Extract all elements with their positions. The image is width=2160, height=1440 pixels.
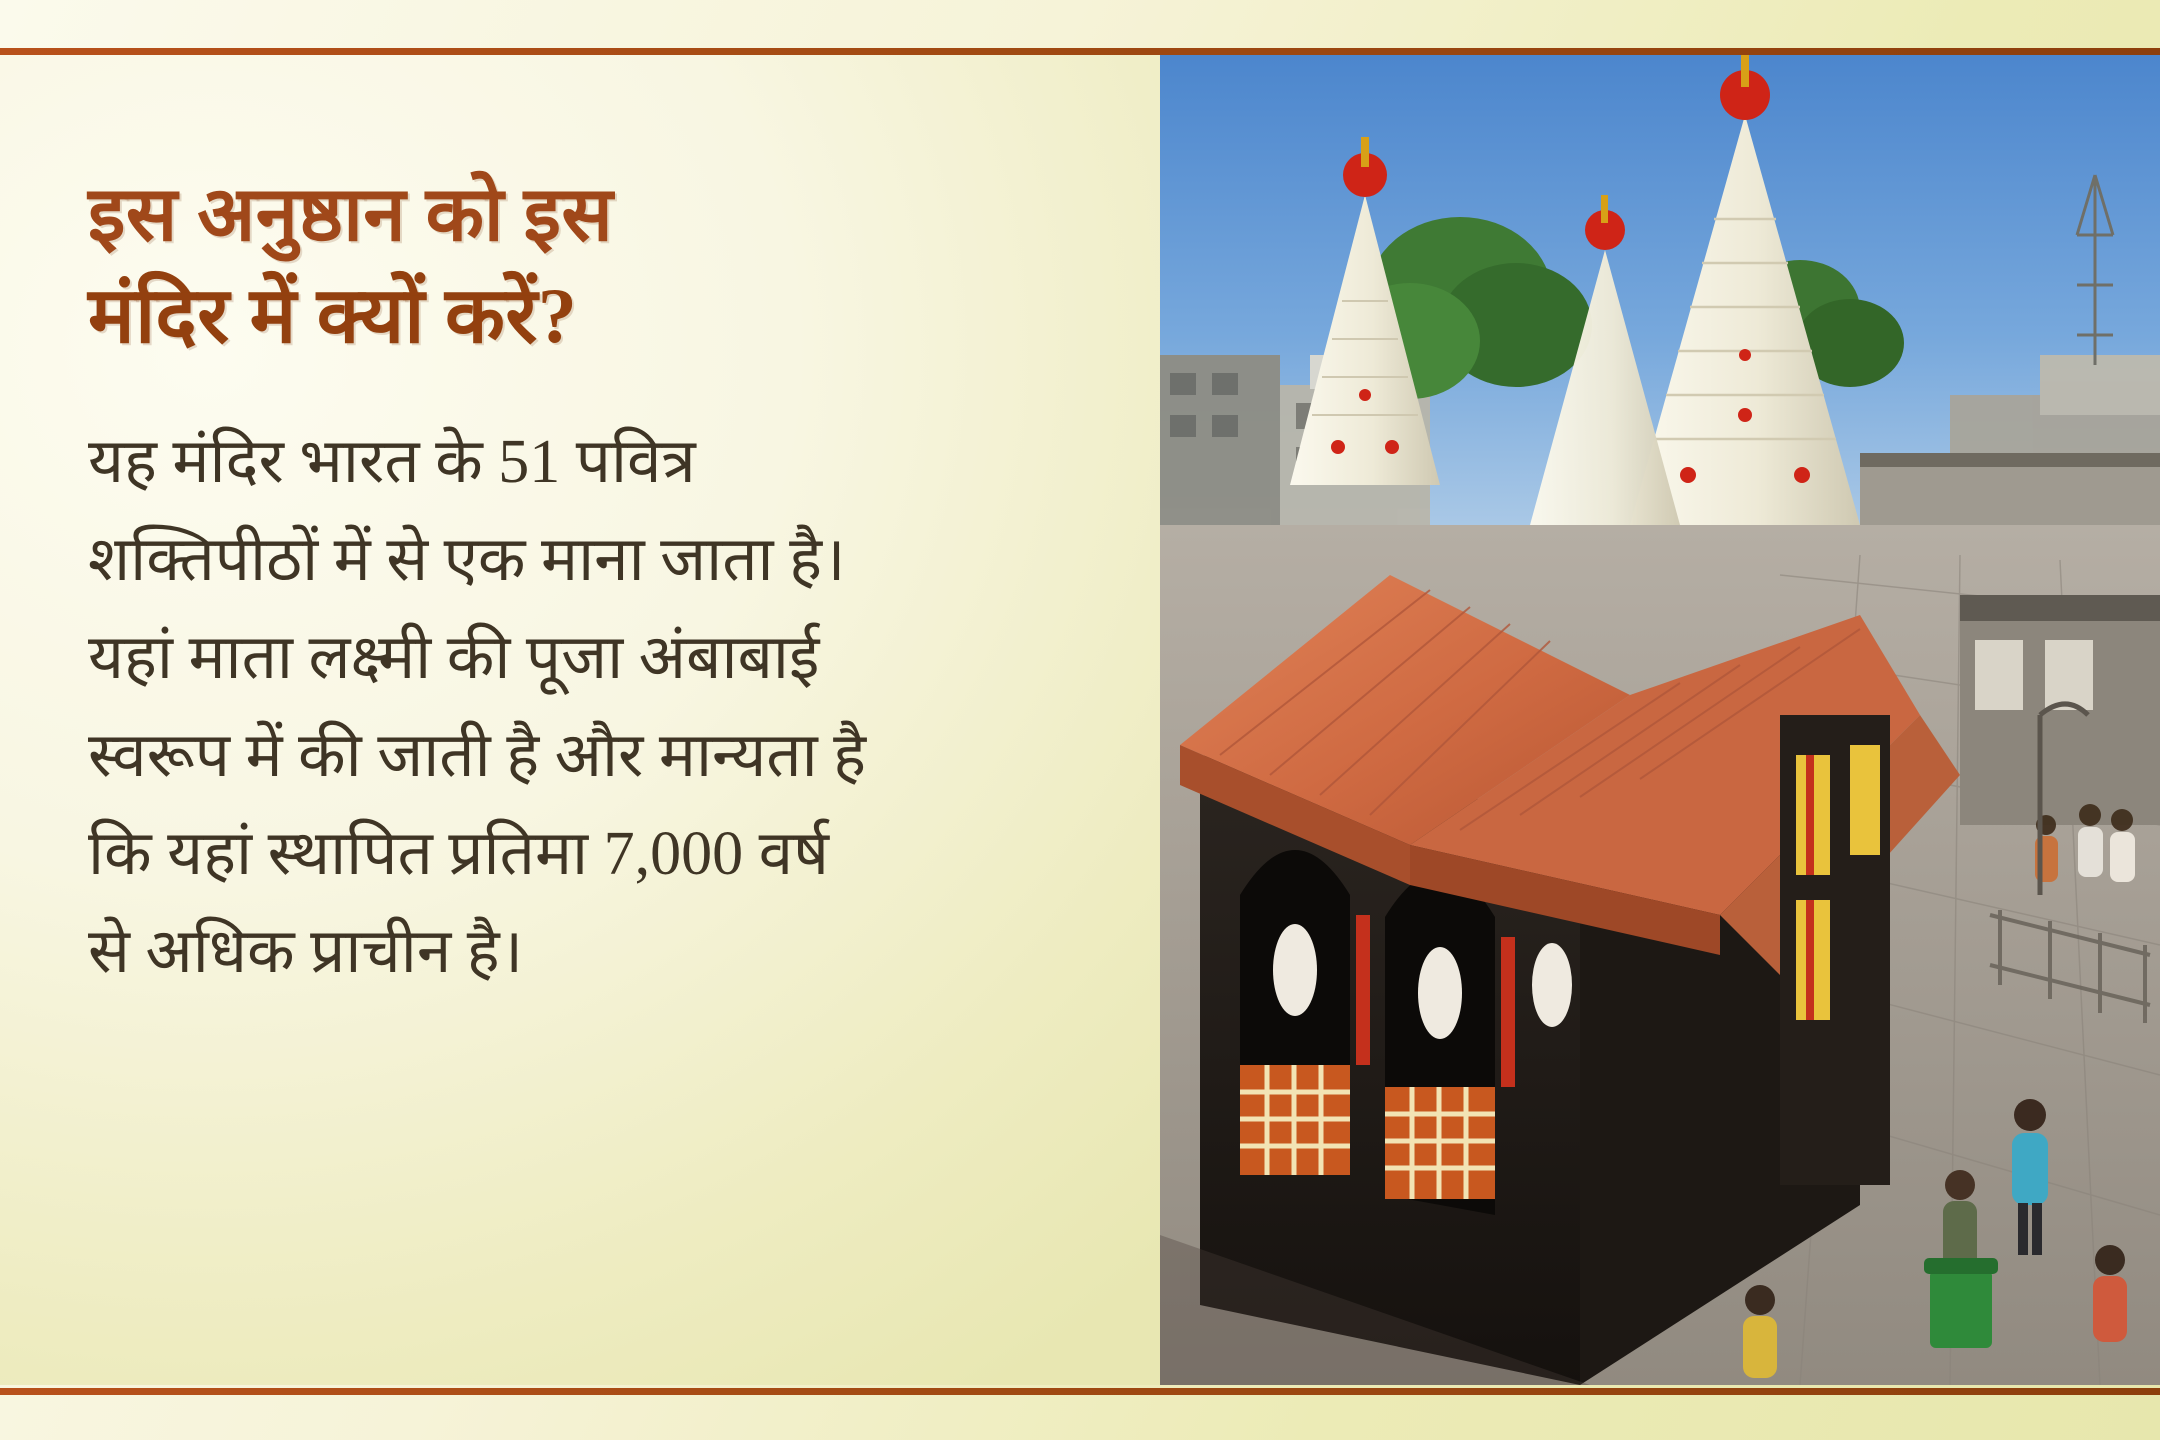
page-title: इस अनुष्ठान को इस मंदिर में क्यों करें? <box>88 165 1040 368</box>
title-line-1: इस अनुष्ठान को इस <box>88 165 1040 265</box>
body-line-5: कि यहां स्थापित प्रतिमा 7,000 वर्ष <box>88 806 1040 904</box>
person <box>2093 1245 2127 1342</box>
body-line-1: यह मंदिर भारत के 51 पवित्र <box>88 414 1040 512</box>
person <box>1743 1285 1777 1378</box>
body-line-4: स्वरूप में की जाती है और मान्यता है <box>88 708 1040 806</box>
dustbin <box>1924 1258 1998 1348</box>
bottom-divider-rule <box>0 1388 2160 1395</box>
temple-photo <box>1160 55 2160 1385</box>
info-card: इस अनुष्ठान को इस मंदिर में क्यों करें? … <box>0 0 2160 1440</box>
top-divider-rule <box>0 48 2160 55</box>
body-line-2: शक्तिपीठों में से एक माना जाता है। <box>88 512 1040 610</box>
person <box>2110 809 2135 882</box>
person <box>2078 804 2103 877</box>
title-line-2: मंदिर में क्यों करें? <box>88 265 1040 368</box>
text-panel: इस अनुष्ठान को इस मंदिर में क्यों करें? … <box>0 55 1160 1385</box>
body-line-3: यहां माता लक्ष्मी की पूजा अंबाबाई <box>88 610 1040 708</box>
temple-illustration <box>1160 55 2160 1385</box>
body-line-6: से अधिक प्राचीन है। <box>88 904 1040 1002</box>
body-paragraph: यह मंदिर भारत के 51 पवित्र शक्तिपीठों मे… <box>88 414 1040 1002</box>
